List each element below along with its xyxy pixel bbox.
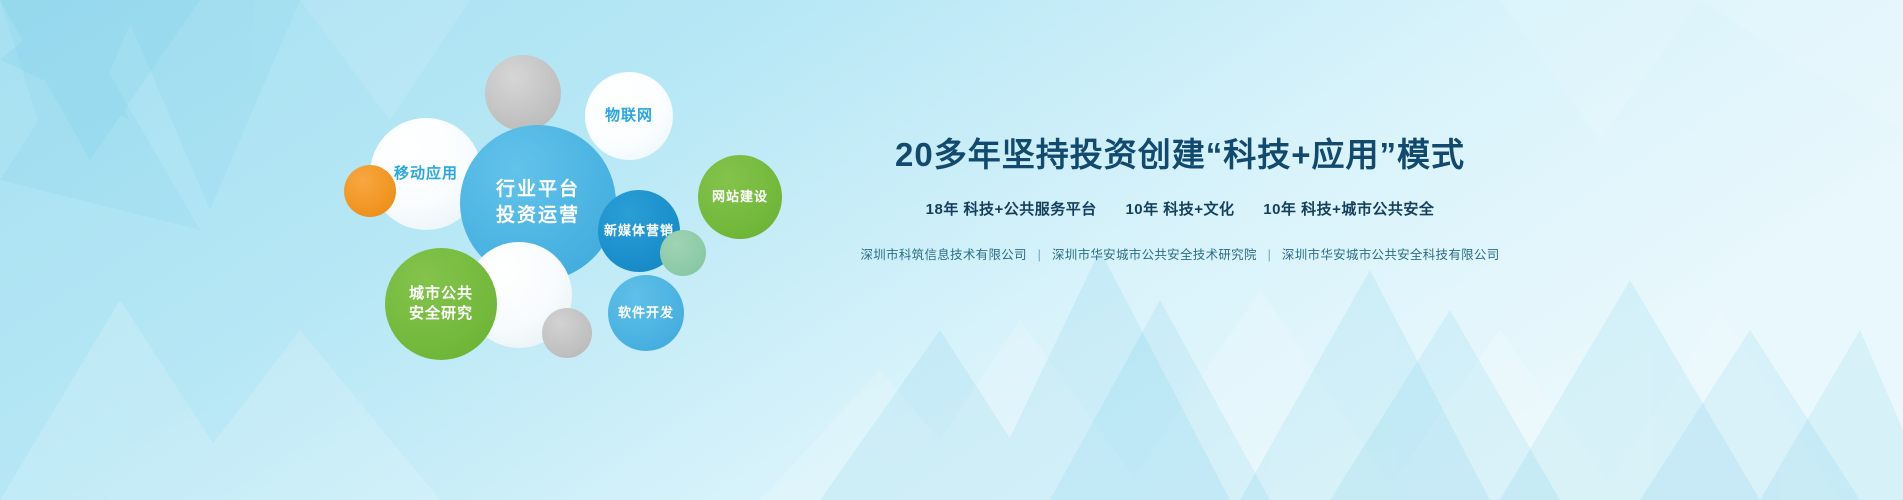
bubble-main-platform-label: 行业平台 投资运营 [496,177,580,228]
bubble-website[interactable]: 网站建设 [698,155,782,239]
bubble-iot[interactable]: 物联网 [585,72,673,160]
bubble-cluster: 物联网 移动应用 行业平台 投资运营 网站建设 新媒体营销 城市公共 安全研究 [330,40,810,370]
bubble-teal [660,230,706,276]
bubble-iot-label: 物联网 [605,106,653,126]
company-separator-2: | [1268,248,1272,262]
bubble-gray-small [542,308,592,358]
company-name-1: 深圳市科筑信息技术有限公司 [860,248,1026,262]
company-separator-1: | [1038,248,1042,262]
bubble-orange [344,165,396,217]
banner-subline: 18年 科技+公共服务平台 10年 科技+文化 10年 科技+城市公共安全 [830,198,1530,219]
bubble-website-label: 网站建设 [712,188,768,206]
bubble-public-safety-line1: 城市公共 [409,285,473,302]
bubble-public-safety-label: 城市公共 安全研究 [409,284,473,325]
subline-item-3: 10年 科技+城市公共安全 [1263,201,1434,218]
subline-item-2: 10年 科技+文化 [1125,201,1234,218]
bubble-software-dev-label: 软件开发 [618,304,674,322]
bubble-public-safety[interactable]: 城市公共 安全研究 [385,248,497,360]
banner-text-block: 20多年坚持投资创建“科技+应用”模式 18年 科技+公共服务平台 10年 科技… [830,128,1530,263]
bubble-mobile-app-label: 移动应用 [394,164,458,184]
bubble-main-platform-line2: 投资运营 [496,205,580,226]
bubble-software-dev[interactable]: 软件开发 [608,275,684,351]
company-name-2: 深圳市华安城市公共安全技术研究院 [1052,248,1257,262]
banner-company-line: 深圳市科筑信息技术有限公司 | 深圳市华安城市公共安全技术研究院 | 深圳市华安… [830,244,1530,263]
bubble-main-platform-line1: 行业平台 [496,179,580,200]
banner-headline: 20多年坚持投资创建“科技+应用”模式 [830,128,1530,176]
promo-banner: 物联网 移动应用 行业平台 投资运营 网站建设 新媒体营销 城市公共 安全研究 [0,0,1903,500]
bubble-new-media-label: 新媒体营销 [604,222,674,240]
bubble-gray-top [485,55,561,131]
company-name-3: 深圳市华安城市公共安全科技有限公司 [1282,248,1500,262]
bubble-public-safety-line2: 安全研究 [409,305,473,322]
subline-item-1: 18年 科技+公共服务平台 [926,201,1097,218]
